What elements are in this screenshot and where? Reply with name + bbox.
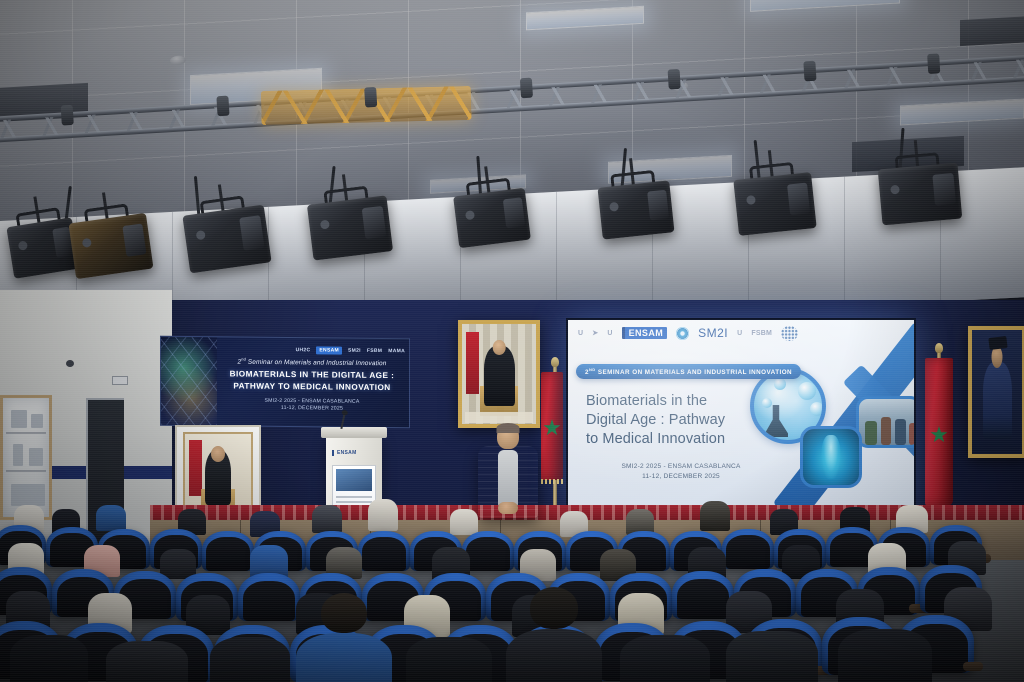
slide-photo-blob <box>865 421 877 445</box>
fixture-knob <box>18 240 28 250</box>
seat-cushion <box>466 537 510 571</box>
mama-mark-icon <box>781 326 798 341</box>
portrait-flag-element <box>466 332 479 394</box>
truss-clamp <box>61 105 74 126</box>
slide-molecule <box>810 402 824 416</box>
banner-meta-line2: 11-12, DECEMBER 2025 <box>219 404 405 413</box>
truss-clamp <box>927 53 940 74</box>
microscope-icon <box>765 405 788 438</box>
audience-member <box>368 499 398 531</box>
banner-text-block: 2nd Seminar on Materials and Industrial … <box>219 356 405 413</box>
projection-screen: U ➤ U ENSAM SM2I U FSBM 2ND SEMINAR ON M… <box>566 318 916 510</box>
audience-member-foreground <box>620 635 710 682</box>
banner-meta: SMI2-2 2025 - ENSAM CASABLANCA 11-12, DE… <box>219 397 405 413</box>
banner-logo-sm2i: SM2I <box>348 347 361 353</box>
portrait-figure-head <box>493 340 506 355</box>
person-body <box>726 631 818 682</box>
truss-clamp <box>803 61 816 82</box>
seat-cushion <box>243 581 295 621</box>
stage-light-fixture <box>68 213 153 279</box>
fixture-body <box>307 195 393 260</box>
presenter-hair <box>497 423 520 433</box>
official-portrait-right <box>968 326 1024 458</box>
fixture-lens <box>933 173 956 206</box>
banner-subtitle-text: Seminar on Materials and Industrial Inno… <box>246 359 387 367</box>
slide-logo-sm2i: SM2I <box>698 326 728 340</box>
slide-molecule <box>798 382 816 400</box>
audience-member-foreground <box>506 629 602 682</box>
fixture-body <box>68 213 153 279</box>
person-body <box>700 501 730 531</box>
slide-logo-uh2c: U <box>578 330 583 337</box>
auditorium-photo: UH2C ENSAM SM2I FSBM MAMA 2nd Seminar on… <box>0 0 1024 682</box>
banner-title: BIOMATERIALS IN THE DIGITAL AGE : PATHWA… <box>219 368 405 394</box>
slide-meta: SMI2-2 2025 - ENSAM CASABLANCA 11-12, DE… <box>586 462 776 482</box>
person-head <box>530 587 578 629</box>
slide-title-line2: Digital Age : Pathway <box>586 411 764 430</box>
banner-logo-uh2c: UH2C <box>296 347 311 353</box>
fixture-lens <box>647 190 669 221</box>
rollup-figure-head <box>211 446 225 462</box>
cabinet-shelf <box>6 432 46 434</box>
truss-clamp <box>216 96 229 117</box>
person-body <box>450 509 478 535</box>
slide-event-pill: 2ND SEMINAR ON MATERIALS AND INDUSTRIAL … <box>576 364 801 379</box>
moroccan-flag-right: ★ <box>925 358 953 506</box>
audience-member <box>700 501 730 531</box>
fixture-body <box>453 188 531 248</box>
slide-logo-um: U <box>607 330 612 337</box>
fixture-body <box>878 163 963 226</box>
seat-cushion <box>726 535 770 569</box>
stage-light-fixture <box>597 180 674 239</box>
banner-logo-fsbm: FSBM <box>367 347 382 353</box>
auditorium-seat[interactable] <box>672 571 734 619</box>
slide-molecule <box>774 378 786 390</box>
audience-member-foreground <box>210 637 290 682</box>
stage-light-fixture <box>307 195 393 260</box>
slide-meta-line2: 11-12, DECEMBER 2025 <box>586 472 776 482</box>
audience-member-foreground <box>406 637 492 682</box>
banner-logo-mama: MAMA <box>388 348 405 354</box>
audience-member <box>96 505 126 531</box>
banner-logo-ensam: ENSAM <box>316 346 342 354</box>
fixture-lens <box>787 183 810 216</box>
banner-artwork <box>161 337 217 426</box>
audience-member <box>450 509 478 535</box>
fixture-lens <box>239 216 265 251</box>
auditorium-seat[interactable] <box>358 531 410 571</box>
flag-star-icon: ★ <box>928 424 950 446</box>
cabinet-item <box>11 410 27 428</box>
slide-title-line3: to Medical Innovation <box>586 430 764 449</box>
audience-member-foreground <box>10 635 88 682</box>
flag-fringe <box>541 479 563 484</box>
person-body <box>10 635 88 682</box>
slide-meta-line1: SMI2-2 2025 - ENSAM CASABLANCA <box>586 462 776 472</box>
slide-pill-sup: ND <box>589 367 596 372</box>
slide-pill-text: SEMINAR ON MATERIALS AND INDUSTRIAL INNO… <box>598 369 792 376</box>
audience-member <box>312 505 342 533</box>
fixture-knob <box>82 238 92 248</box>
audience-member-foreground <box>726 631 818 682</box>
lectern-poster-image <box>336 469 372 491</box>
fixture-body <box>597 180 674 239</box>
audience-member-foreground <box>296 633 392 682</box>
person-body <box>406 637 492 682</box>
person-body <box>96 505 126 531</box>
wall-sign <box>112 376 128 385</box>
stage-light-fixture <box>878 163 963 226</box>
fixture-knob <box>746 195 756 205</box>
cabinet-item <box>13 444 23 466</box>
person-body <box>506 629 602 682</box>
banner-title-line2: PATHWAY TO MEDICAL INNOVATION <box>219 380 405 394</box>
slide-photo-blob <box>909 423 916 445</box>
fixture-knob <box>196 230 206 240</box>
human-body-icon <box>821 435 840 480</box>
person-body <box>210 637 290 682</box>
presentation-slide: U ➤ U ENSAM SM2I U FSBM 2ND SEMINAR ON M… <box>568 320 914 508</box>
person-body <box>296 633 392 682</box>
fixture-lens <box>503 198 525 229</box>
audience-member-foreground <box>106 641 188 682</box>
slide-logo-fsbm: FSBM <box>751 330 772 337</box>
royal-portrait-center <box>458 320 540 428</box>
fixture-knob <box>890 185 900 195</box>
truss-clamp <box>364 87 377 108</box>
lectern-brand-label: ENSAM <box>332 450 357 456</box>
auditorium-seat[interactable] <box>202 531 254 571</box>
cabinet-shelf <box>6 470 46 472</box>
audience-seating <box>0 495 1024 682</box>
fixture-lens <box>122 223 146 257</box>
slide-lab-photo <box>856 396 916 448</box>
stage-light-fixture <box>453 188 531 248</box>
person-body <box>620 635 710 682</box>
stage-light-fixture <box>733 172 816 236</box>
fixture-lens <box>362 206 386 240</box>
slide-logo-arrow: ➤ <box>592 329 598 337</box>
banner-logo-row: UH2C ENSAM SM2I FSBM MAMA <box>219 342 405 357</box>
auditorium-seat[interactable] <box>722 529 774 569</box>
lectern-top <box>321 427 387 438</box>
slide-logo-row: U ➤ U ENSAM SM2I U FSBM <box>578 325 906 341</box>
banner-subtitle: 2nd Seminar on Materials and Industrial … <box>219 356 405 367</box>
slide-title-line1: Biomaterials in the <box>586 392 764 411</box>
seat-cushion <box>677 579 729 619</box>
portrait-figure <box>484 346 515 406</box>
slide-logo-uh2: U <box>737 330 742 337</box>
seat-cushion <box>362 537 406 571</box>
person-body <box>838 629 932 682</box>
person-head <box>321 593 367 633</box>
truss-clamp <box>668 69 681 90</box>
rollup-flag-art <box>189 440 202 496</box>
truss-clamp <box>520 78 533 99</box>
slide-photo-blob <box>895 419 906 445</box>
cabinet-item <box>31 414 43 428</box>
seat-cushion <box>206 537 250 571</box>
slide-human-body-tile <box>800 426 862 488</box>
cabinet-item <box>29 448 43 466</box>
fixture-body <box>733 172 816 236</box>
slide-photo-blob <box>881 417 891 445</box>
sm2i-mark-icon <box>676 327 689 340</box>
person-body <box>312 505 342 533</box>
slide-title: Biomaterials in the Digital Age : Pathwa… <box>586 392 764 449</box>
audience-member-foreground <box>838 629 932 682</box>
moroccan-flag-center: ★ <box>541 372 563 480</box>
person-body <box>106 641 188 682</box>
flag-star-icon: ★ <box>541 417 563 439</box>
portrait-figure <box>983 362 1012 439</box>
stage-light-fixture <box>182 205 271 274</box>
fixture-knob <box>465 210 475 220</box>
wall-fixture-dot <box>66 360 74 367</box>
seat-armrest <box>963 662 983 671</box>
auditorium-seat[interactable] <box>238 573 300 621</box>
person-body <box>368 499 398 531</box>
fixture-knob <box>609 201 619 211</box>
fixture-knob <box>320 219 330 229</box>
slide-logo-ensam: ENSAM <box>622 327 668 339</box>
fixture-body <box>182 205 271 274</box>
wall-event-banner: UH2C ENSAM SM2I FSBM MAMA 2nd Seminar on… <box>160 336 410 429</box>
portrait-caption-strip <box>465 412 533 423</box>
